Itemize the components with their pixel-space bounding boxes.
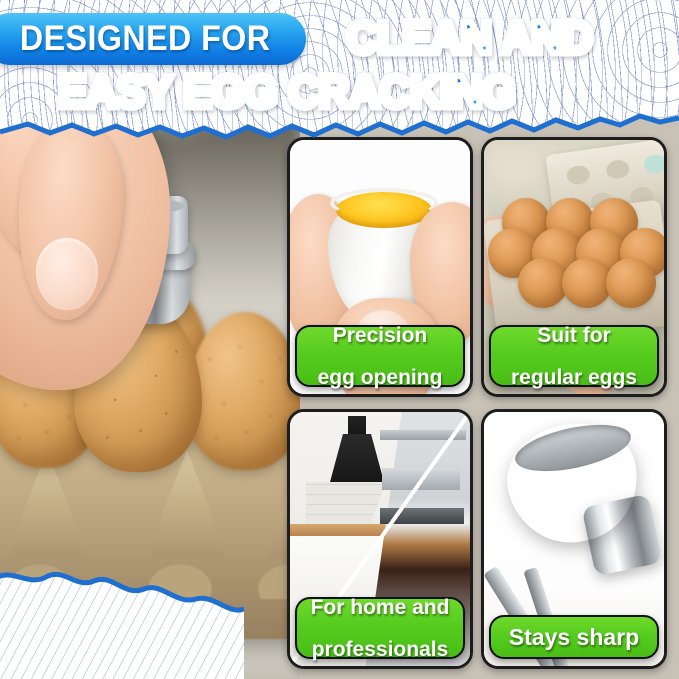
- brown-egg: [606, 258, 656, 308]
- badge-suit-for-regular-eggs: Suit for regular eggs: [489, 325, 659, 387]
- product-infographic: DESIGNED FOR CLEAN AND EASY EGG CRACKING: [0, 0, 679, 679]
- headline-line-1: CLEAN AND: [346, 12, 592, 64]
- badge-line-1: Stays sharp: [509, 626, 639, 649]
- thumbnail: [36, 238, 98, 310]
- brown-egg: [562, 258, 612, 308]
- feature-panel-grid: Precision egg opening Suit for regular e…: [287, 137, 679, 679]
- badge-line-1: Suit for: [511, 325, 637, 346]
- badge-for-home-and-professionals: For home and professionals: [295, 597, 465, 659]
- brown-egg: [518, 258, 568, 308]
- badge-line-2: egg opening: [318, 367, 443, 388]
- bottom-wave-decoration: [0, 557, 244, 679]
- badge-line-1: For home and: [311, 597, 450, 618]
- badge-line-2: professionals: [311, 639, 450, 660]
- badge-stays-sharp: Stays sharp: [489, 615, 659, 659]
- eggshell-rim: [330, 188, 438, 218]
- badge-line-1: Precision: [318, 325, 443, 346]
- sparkle-icon: [552, 478, 596, 522]
- badge-precision-egg-opening: Precision egg opening: [295, 325, 465, 387]
- badge-line-2: regular eggs: [511, 367, 637, 388]
